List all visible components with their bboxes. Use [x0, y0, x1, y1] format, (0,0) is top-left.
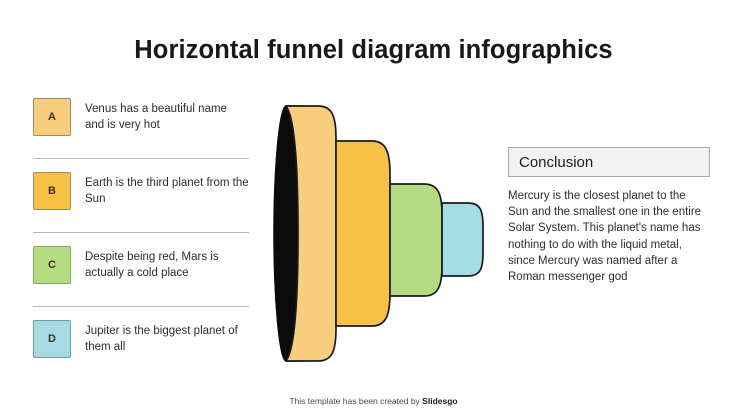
- funnel-segment-b[interactable]: [336, 141, 390, 326]
- legend-text-c: Despite being red, Mars is actually a co…: [85, 246, 249, 281]
- legend-text-d: Jupiter is the biggest planet of them al…: [85, 320, 249, 355]
- conclusion-panel: Conclusion Mercury is the closest planet…: [508, 147, 710, 285]
- funnel-diagram: [272, 96, 497, 371]
- legend-divider-1: [33, 158, 249, 159]
- page-title: Horizontal funnel diagram infographics: [0, 36, 747, 65]
- legend-swatch-label-b: B: [48, 185, 56, 197]
- legend-swatch-b: B: [33, 172, 71, 210]
- legend-divider-3: [33, 306, 249, 307]
- legend-swatch-a: A: [33, 98, 71, 136]
- footer-credit-prefix: This template has been created by: [289, 396, 422, 406]
- conclusion-heading-text: Conclusion: [519, 154, 593, 171]
- funnel-segment-d[interactable]: [442, 203, 483, 276]
- legend-item-b[interactable]: B Earth is the third planet from the Sun: [33, 172, 249, 218]
- legend-text-b: Earth is the third planet from the Sun: [85, 172, 249, 207]
- legend-list: A Venus has a beautiful name and is very…: [33, 98, 249, 366]
- legend-divider-2: [33, 232, 249, 233]
- funnel-segment-c[interactable]: [390, 184, 442, 296]
- legend-swatch-label-a: A: [48, 111, 56, 123]
- legend-swatch-c: C: [33, 246, 71, 284]
- conclusion-heading: Conclusion: [508, 147, 710, 177]
- legend-text-a: Venus has a beautiful name and is very h…: [85, 98, 249, 133]
- legend-swatch-label-c: C: [48, 259, 56, 271]
- legend-swatch-d: D: [33, 320, 71, 358]
- legend-item-c[interactable]: C Despite being red, Mars is actually a …: [33, 246, 249, 292]
- legend-item-d[interactable]: D Jupiter is the biggest planet of them …: [33, 320, 249, 366]
- legend-swatch-label-d: D: [48, 333, 56, 345]
- footer-credit: This template has been created by Slides…: [0, 396, 747, 406]
- footer-credit-brand[interactable]: Slidesgo: [422, 396, 457, 406]
- legend-item-a[interactable]: A Venus has a beautiful name and is very…: [33, 98, 249, 144]
- conclusion-body-text: Mercury is the closest planet to the Sun…: [508, 188, 704, 285]
